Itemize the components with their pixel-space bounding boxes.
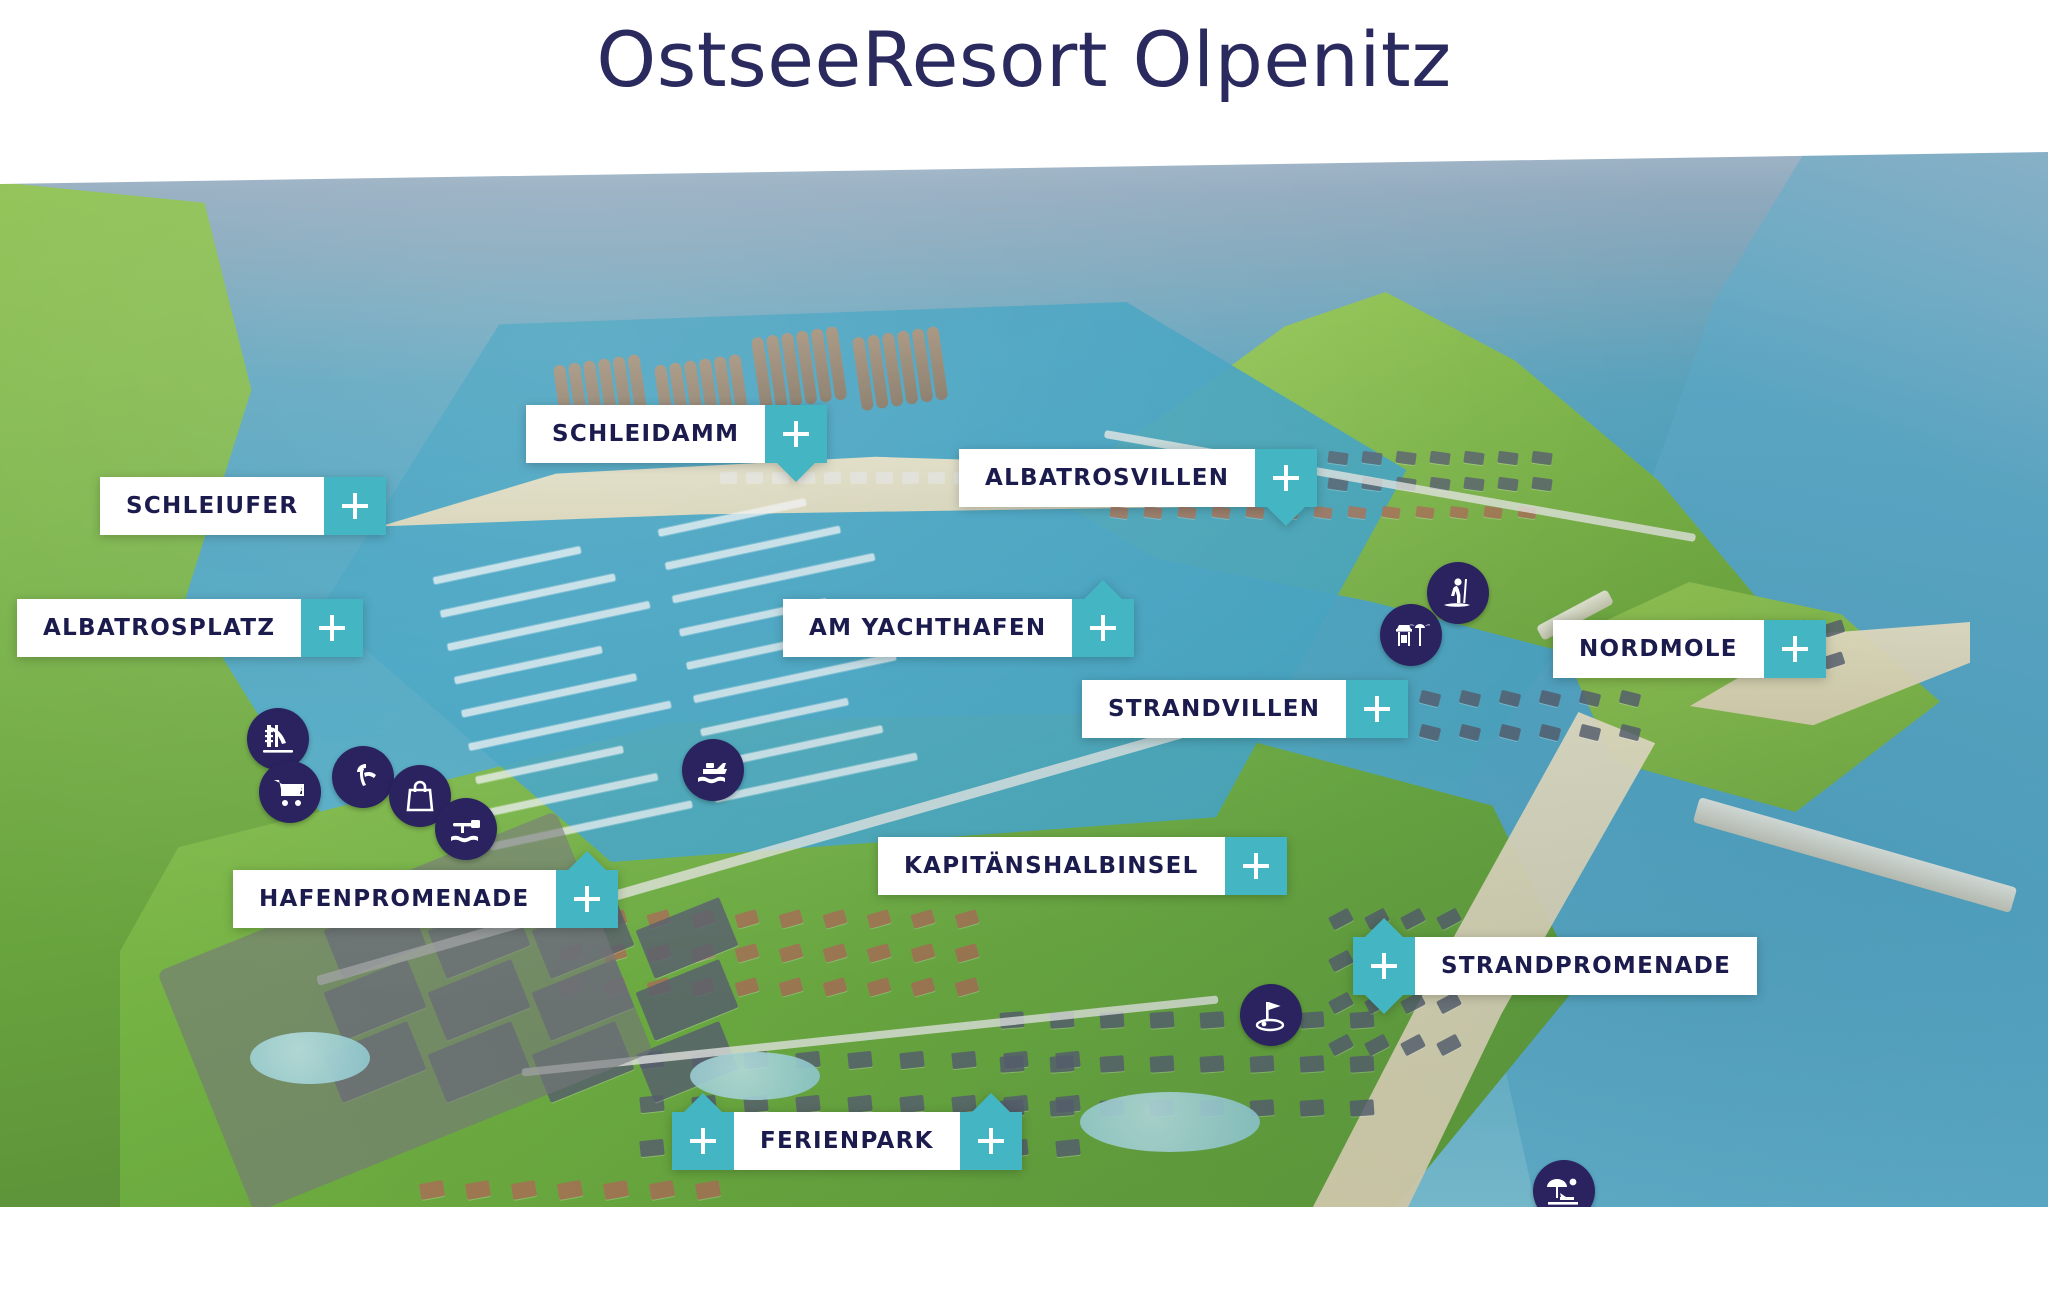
plus-button-albatrosvillen-right[interactable] (1255, 449, 1317, 507)
pin-arrow-up-icon (568, 851, 606, 870)
hotspot-label-nordmole: NORDMOLE (1553, 620, 1764, 678)
plus-button-kapitaenshalbinsel-right[interactable] (1225, 837, 1287, 895)
pin-arrow-down-icon (777, 463, 815, 482)
plus-button-ferienpark-right[interactable] (960, 1112, 1022, 1170)
hotspot-label-strandpromenade: STRANDPROMENADE (1415, 937, 1757, 995)
hotspot-label-ferienpark: FERIENPARK (734, 1112, 960, 1170)
wellness-icon[interactable] (332, 746, 394, 808)
hotspot-label-hafenpromenade: HAFENPROMENADE (233, 870, 556, 928)
wellness-icon-glyph (344, 758, 382, 796)
hotspot-albatrosplatz[interactable]: ALBATROSPLATZ (17, 599, 363, 657)
page-title: OstseeResort Olpenitz (0, 18, 2048, 102)
pin-arrow-up-icon (972, 1093, 1010, 1112)
hotspot-strandpromenade[interactable]: STRANDPROMENADE (1353, 937, 1757, 995)
pin-arrow-down-icon (1365, 995, 1403, 1014)
golf-flag-icon-glyph (1252, 996, 1290, 1034)
hotspot-hafenpromenade[interactable]: HAFENPROMENADE (233, 870, 618, 928)
hotspot-kapitaenshalbinsel[interactable]: KAPITÄNSHALBINSEL (878, 837, 1287, 895)
hotspot-label-albatrosplatz: ALBATROSPLATZ (17, 599, 301, 657)
motorboat-icon-glyph (694, 751, 732, 789)
plus-button-am-yachthafen-right[interactable] (1072, 599, 1134, 657)
plus-button-strandvillen-right[interactable] (1346, 680, 1408, 738)
resort-map-page: OstseeResort Olpenitz (0, 0, 2048, 1303)
beach-umbrella-icon-glyph (1545, 1172, 1583, 1207)
hotspot-label-kapitaenshalbinsel: KAPITÄNSHALBINSEL (878, 837, 1225, 895)
shopping-cart-icon[interactable] (259, 761, 321, 823)
motorboat-icon[interactable] (682, 739, 744, 801)
plus-button-nordmole-right[interactable] (1764, 620, 1826, 678)
water-slide-icon-glyph (259, 720, 297, 758)
pin-arrow-up-icon (1365, 918, 1403, 937)
pin-arrow-up-icon (684, 1093, 722, 1112)
pond-east (1080, 1092, 1260, 1152)
plus-button-hafenpromenade-right[interactable] (556, 870, 618, 928)
hotspot-label-schleiufer: SCHLEIUFER (100, 477, 324, 535)
hotspot-label-strandvillen: STRANDVILLEN (1082, 680, 1346, 738)
water-slide-icon[interactable] (247, 708, 309, 770)
hotspot-label-schleidamm: SCHLEIDAMM (526, 405, 765, 463)
plus-button-albatrosplatz-right[interactable] (301, 599, 363, 657)
hotspot-label-albatrosvillen: ALBATROSVILLEN (959, 449, 1255, 507)
boat-ramp-icon[interactable] (435, 798, 497, 860)
beach-bar-icon[interactable] (1380, 604, 1442, 666)
hotspot-albatrosvillen[interactable]: ALBATROSVILLEN (959, 449, 1317, 507)
plus-button-schleiufer-right[interactable] (324, 477, 386, 535)
map-artwork (0, 152, 2048, 1207)
paddleboard-icon[interactable] (1427, 562, 1489, 624)
shopping-cart-icon-glyph (271, 773, 309, 811)
boat-ramp-icon-glyph (447, 810, 485, 848)
pin-arrow-up-icon (1084, 580, 1122, 599)
hotspot-label-am-yachthafen: AM YACHTHAFEN (783, 599, 1072, 657)
hotspot-am-yachthafen[interactable]: AM YACHTHAFEN (783, 599, 1134, 657)
shopping-bag-icon-glyph (401, 777, 439, 815)
beach-bar-icon-glyph (1392, 616, 1430, 654)
plus-button-ferienpark-left[interactable] (672, 1112, 734, 1170)
hotspot-strandvillen[interactable]: STRANDVILLEN (1082, 680, 1408, 738)
hotspot-schleidamm[interactable]: SCHLEIDAMM (526, 405, 827, 463)
hotspot-ferienpark[interactable]: FERIENPARK (672, 1112, 1022, 1170)
hotspot-nordmole[interactable]: NORDMOLE (1553, 620, 1826, 678)
resort-aerial-map[interactable]: SCHLEIDAMMALBATROSVILLENSCHLEIUFERALBATR… (0, 152, 2048, 1207)
pin-arrow-down-icon (1267, 507, 1305, 526)
hotspot-schleiufer[interactable]: SCHLEIUFER (100, 477, 386, 535)
golf-flag-icon[interactable] (1240, 984, 1302, 1046)
plus-button-strandpromenade-left[interactable] (1353, 937, 1415, 995)
paddleboard-icon-glyph (1439, 574, 1477, 612)
pond-west (250, 1032, 370, 1084)
plus-button-schleidamm-right[interactable] (765, 405, 827, 463)
